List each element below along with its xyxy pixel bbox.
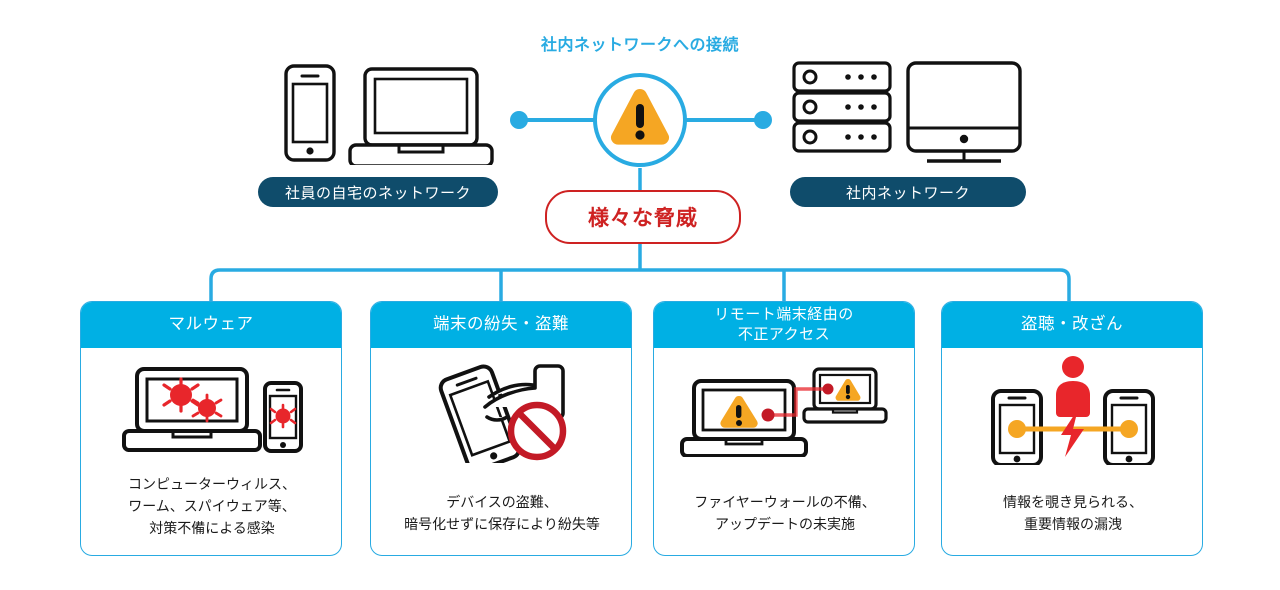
threat-card-remote-access[interactable]: リモート端末経由の 不正アクセス bbox=[653, 301, 915, 556]
stolen-phone-icon bbox=[371, 349, 632, 469]
card-description: 情報を覗き見られる、 重要情報の漏洩 bbox=[942, 491, 1203, 535]
card-description-line: 情報を覗き見られる、 bbox=[942, 491, 1203, 513]
threats-label: 様々な脅威 bbox=[545, 190, 741, 244]
card-description-line: ファイヤーウォールの不備、 bbox=[654, 491, 915, 513]
card-description-line: 対策不備による感染 bbox=[81, 517, 342, 539]
card-title: リモート端末経由の 不正アクセス bbox=[653, 301, 915, 348]
card-description-line: 暗号化せずに保存により紛失等 bbox=[371, 513, 632, 535]
card-description-line: デバイスの盗難、 bbox=[371, 491, 632, 513]
threat-card-device-loss[interactable]: 端末の紛失・盗難 bbox=[370, 301, 632, 556]
card-title: 端末の紛失・盗難 bbox=[370, 301, 632, 348]
diagram-canvas: 社内ネットワークへの接続 bbox=[0, 0, 1280, 590]
threat-card-eavesdropping[interactable]: 盗聴・改ざん bbox=[941, 301, 1203, 556]
connector-dot-right bbox=[754, 111, 772, 129]
remote-access-warning-icon bbox=[654, 349, 915, 469]
card-description-line: 重要情報の漏洩 bbox=[942, 513, 1203, 535]
card-title: 盗聴・改ざん bbox=[941, 301, 1203, 348]
eavesdropping-icon bbox=[942, 349, 1203, 469]
laptop-virus-icon bbox=[81, 349, 342, 469]
card-title: マルウェア bbox=[80, 301, 342, 348]
attacker-person-icon bbox=[1056, 356, 1090, 417]
card-description-line: アップデートの未実施 bbox=[654, 513, 915, 535]
card-description: ファイヤーウォールの不備、 アップデートの未実施 bbox=[654, 491, 915, 535]
card-description: デバイスの盗難、 暗号化せずに保存により紛失等 bbox=[371, 491, 632, 535]
prohibition-icon bbox=[511, 405, 563, 457]
card-title-line: 不正アクセス bbox=[738, 326, 830, 343]
card-description-line: コンピューターウィルス、 bbox=[81, 473, 342, 495]
card-description: コンピューターウィルス、 ワーム、スパイウェア等、 対策不備による感染 bbox=[81, 473, 342, 539]
card-description-line: ワーム、スパイウェア等、 bbox=[81, 495, 342, 517]
threat-card-malware[interactable]: マルウェア bbox=[80, 301, 342, 556]
central-warning-badge bbox=[591, 71, 689, 169]
card-title-line: リモート端末経由の bbox=[714, 306, 854, 323]
connector-dot-left bbox=[510, 111, 528, 129]
